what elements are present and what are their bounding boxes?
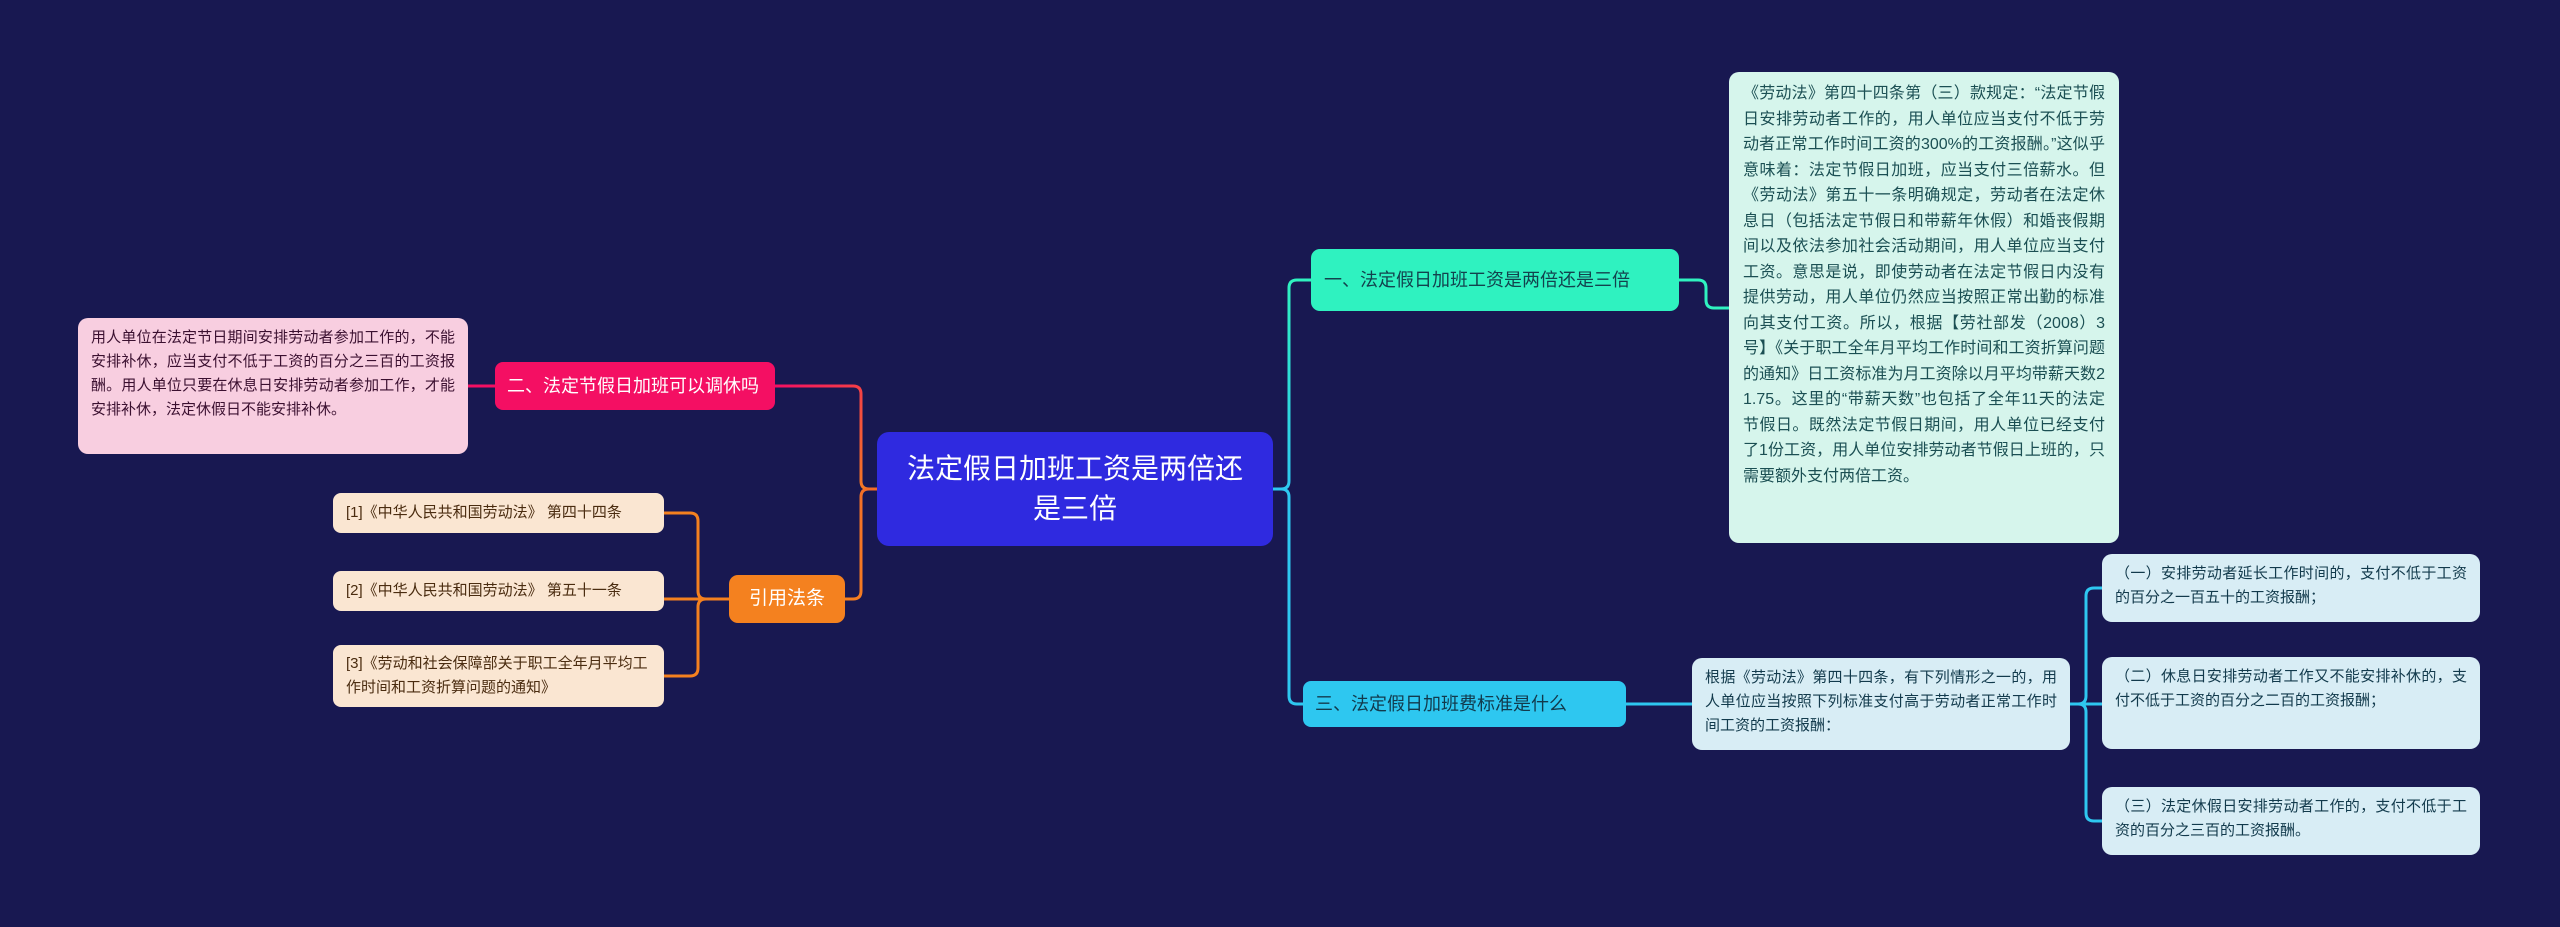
citation-item[interactable]: [1]《中华人民共和国劳动法》 第四十四条 [333, 493, 664, 533]
clause-item[interactable]: （二）休息日安排劳动者工作又不能安排补休的，支付不低于工资的百分之二百的工资报酬… [2102, 657, 2480, 749]
wire-branch-one-to-detail [1679, 280, 1729, 308]
wire-root-to-citations [845, 489, 877, 599]
clause-item-text: （一）安排劳动者延长工作时间的，支付不低于工资的百分之一百五十的工资报酬； [2115, 562, 2467, 610]
wire-citations-to-law-1 [664, 513, 729, 599]
branch-one-label: 一、法定假日加班工资是两倍还是三倍 [1324, 267, 1666, 293]
branch-node-three[interactable]: 三、法定假日加班费标准是什么 [1303, 681, 1626, 727]
wire-root-to-branch-one [1273, 280, 1311, 489]
wire-root-to-branch-two [775, 386, 877, 489]
branch-node-two[interactable]: 二、法定节假日加班可以调休吗 [495, 362, 775, 410]
citation-item-text: [1]《中华人民共和国劳动法》 第四十四条 [346, 501, 651, 525]
citation-item-text: [2]《中华人民共和国劳动法》 第五十一条 [346, 579, 651, 603]
branch-two-label: 二、法定节假日加班可以调休吗 [507, 373, 763, 399]
branch-three-label: 三、法定假日加班费标准是什么 [1315, 691, 1614, 717]
branch-three-detail-card[interactable]: 根据《劳动法》第四十四条，有下列情形之一的，用人单位应当按照下列标准支付高于劳动… [1692, 658, 2070, 750]
branch-node-one[interactable]: 一、法定假日加班工资是两倍还是三倍 [1311, 249, 1679, 311]
clause-item-text: （三）法定休假日安排劳动者工作的，支付不低于工资的百分之三百的工资报酬。 [2115, 795, 2467, 843]
root-node[interactable]: 法定假日加班工资是两倍还是三倍 [877, 432, 1273, 546]
wire-detail-to-clause-3 [2070, 704, 2102, 821]
wire-root-to-branch-three [1273, 489, 1303, 704]
root-label: 法定假日加班工资是两倍还是三倍 [901, 449, 1249, 529]
citation-item[interactable]: [2]《中华人民共和国劳动法》 第五十一条 [333, 571, 664, 611]
branch-one-detail-card[interactable]: 《劳动法》第四十四条第（三）款规定：“法定节假日安排劳动者工作的，用人单位应当支… [1729, 72, 2119, 543]
branch-node-citations[interactable]: 引用法条 [729, 575, 845, 623]
wire-detail-to-clause-1 [2070, 588, 2102, 704]
branch-one-detail-text: 《劳动法》第四十四条第（三）款规定：“法定节假日安排劳动者工作的，用人单位应当支… [1743, 81, 2105, 489]
citation-item[interactable]: [3]《劳动和社会保障部关于职工全年月平均工作时间和工资折算问题的通知》 [333, 645, 664, 707]
citation-item-text: [3]《劳动和社会保障部关于职工全年月平均工作时间和工资折算问题的通知》 [346, 652, 651, 700]
wire-citations-to-law-3 [664, 599, 729, 676]
clause-item-text: （二）休息日安排劳动者工作又不能安排补休的，支付不低于工资的百分之二百的工资报酬… [2115, 665, 2467, 713]
branch-two-detail-card[interactable]: 用人单位在法定节日期间安排劳动者参加工作的，不能安排补休，应当支付不低于工资的百… [78, 318, 468, 454]
mindmap-canvas: 法定假日加班工资是两倍还是三倍 一、法定假日加班工资是两倍还是三倍 《劳动法》第… [0, 0, 2560, 927]
citations-label: 引用法条 [737, 586, 837, 612]
clause-item[interactable]: （三）法定休假日安排劳动者工作的，支付不低于工资的百分之三百的工资报酬。 [2102, 787, 2480, 855]
clause-item[interactable]: （一）安排劳动者延长工作时间的，支付不低于工资的百分之一百五十的工资报酬； [2102, 554, 2480, 622]
branch-two-detail-text: 用人单位在法定节日期间安排劳动者参加工作的，不能安排补休，应当支付不低于工资的百… [91, 326, 455, 422]
branch-three-detail-text: 根据《劳动法》第四十四条，有下列情形之一的，用人单位应当按照下列标准支付高于劳动… [1705, 666, 2057, 738]
